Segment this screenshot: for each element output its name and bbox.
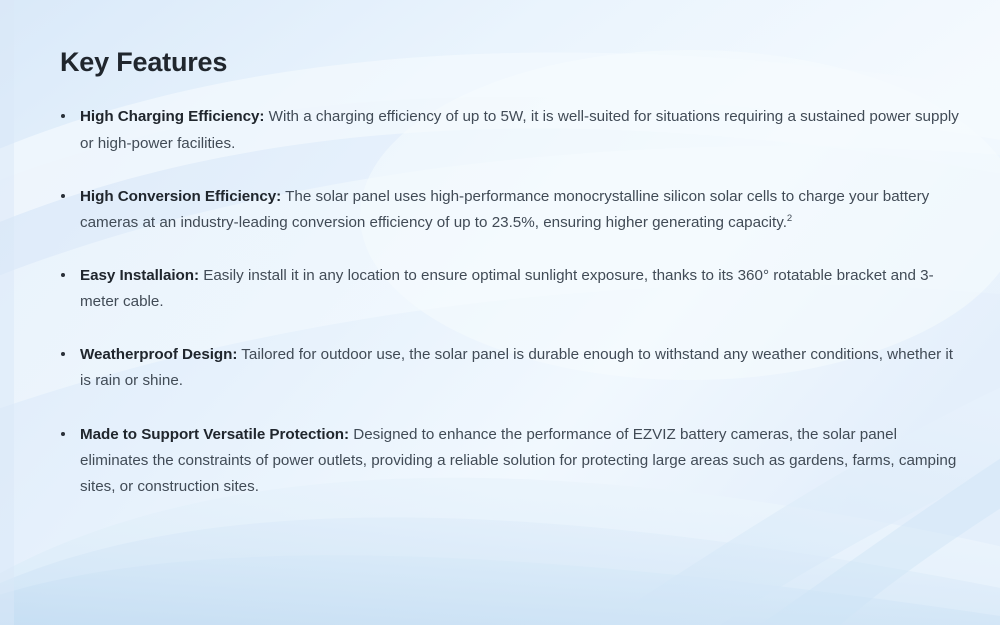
page-title: Key Features	[60, 46, 962, 78]
bullet-icon	[61, 273, 65, 277]
key-features-page: Key Features High Charging Efficiency: W…	[0, 0, 1000, 625]
feature-term: High Charging Efficiency:	[80, 108, 264, 125]
bullet-icon	[61, 114, 65, 118]
feature-item-high-charging-efficiency: High Charging Efficiency: With a chargin…	[60, 104, 962, 156]
bullet-icon	[61, 352, 65, 356]
feature-list: High Charging Efficiency: With a chargin…	[60, 104, 962, 500]
footnote-marker: 2	[787, 213, 792, 224]
bullet-icon	[61, 194, 65, 198]
feature-item-easy-installation: Easy Installaion: Easily install it in a…	[60, 263, 962, 315]
content-area: Key Features High Charging Efficiency: W…	[0, 0, 1000, 625]
feature-item-weatherproof-design: Weatherproof Design: Tailored for outdoo…	[60, 342, 962, 394]
feature-term: High Conversion Efficiency:	[80, 188, 281, 205]
feature-item-versatile-protection: Made to Support Versatile Protection: De…	[60, 422, 962, 500]
feature-description: Easily install it in any location to ens…	[80, 267, 934, 310]
bullet-icon	[61, 432, 65, 436]
feature-item-high-conversion-efficiency: High Conversion Efficiency: The solar pa…	[60, 184, 962, 236]
feature-term: Weatherproof Design:	[80, 346, 237, 363]
feature-term: Easy Installaion:	[80, 267, 199, 284]
feature-term: Made to Support Versatile Protection:	[80, 426, 349, 443]
